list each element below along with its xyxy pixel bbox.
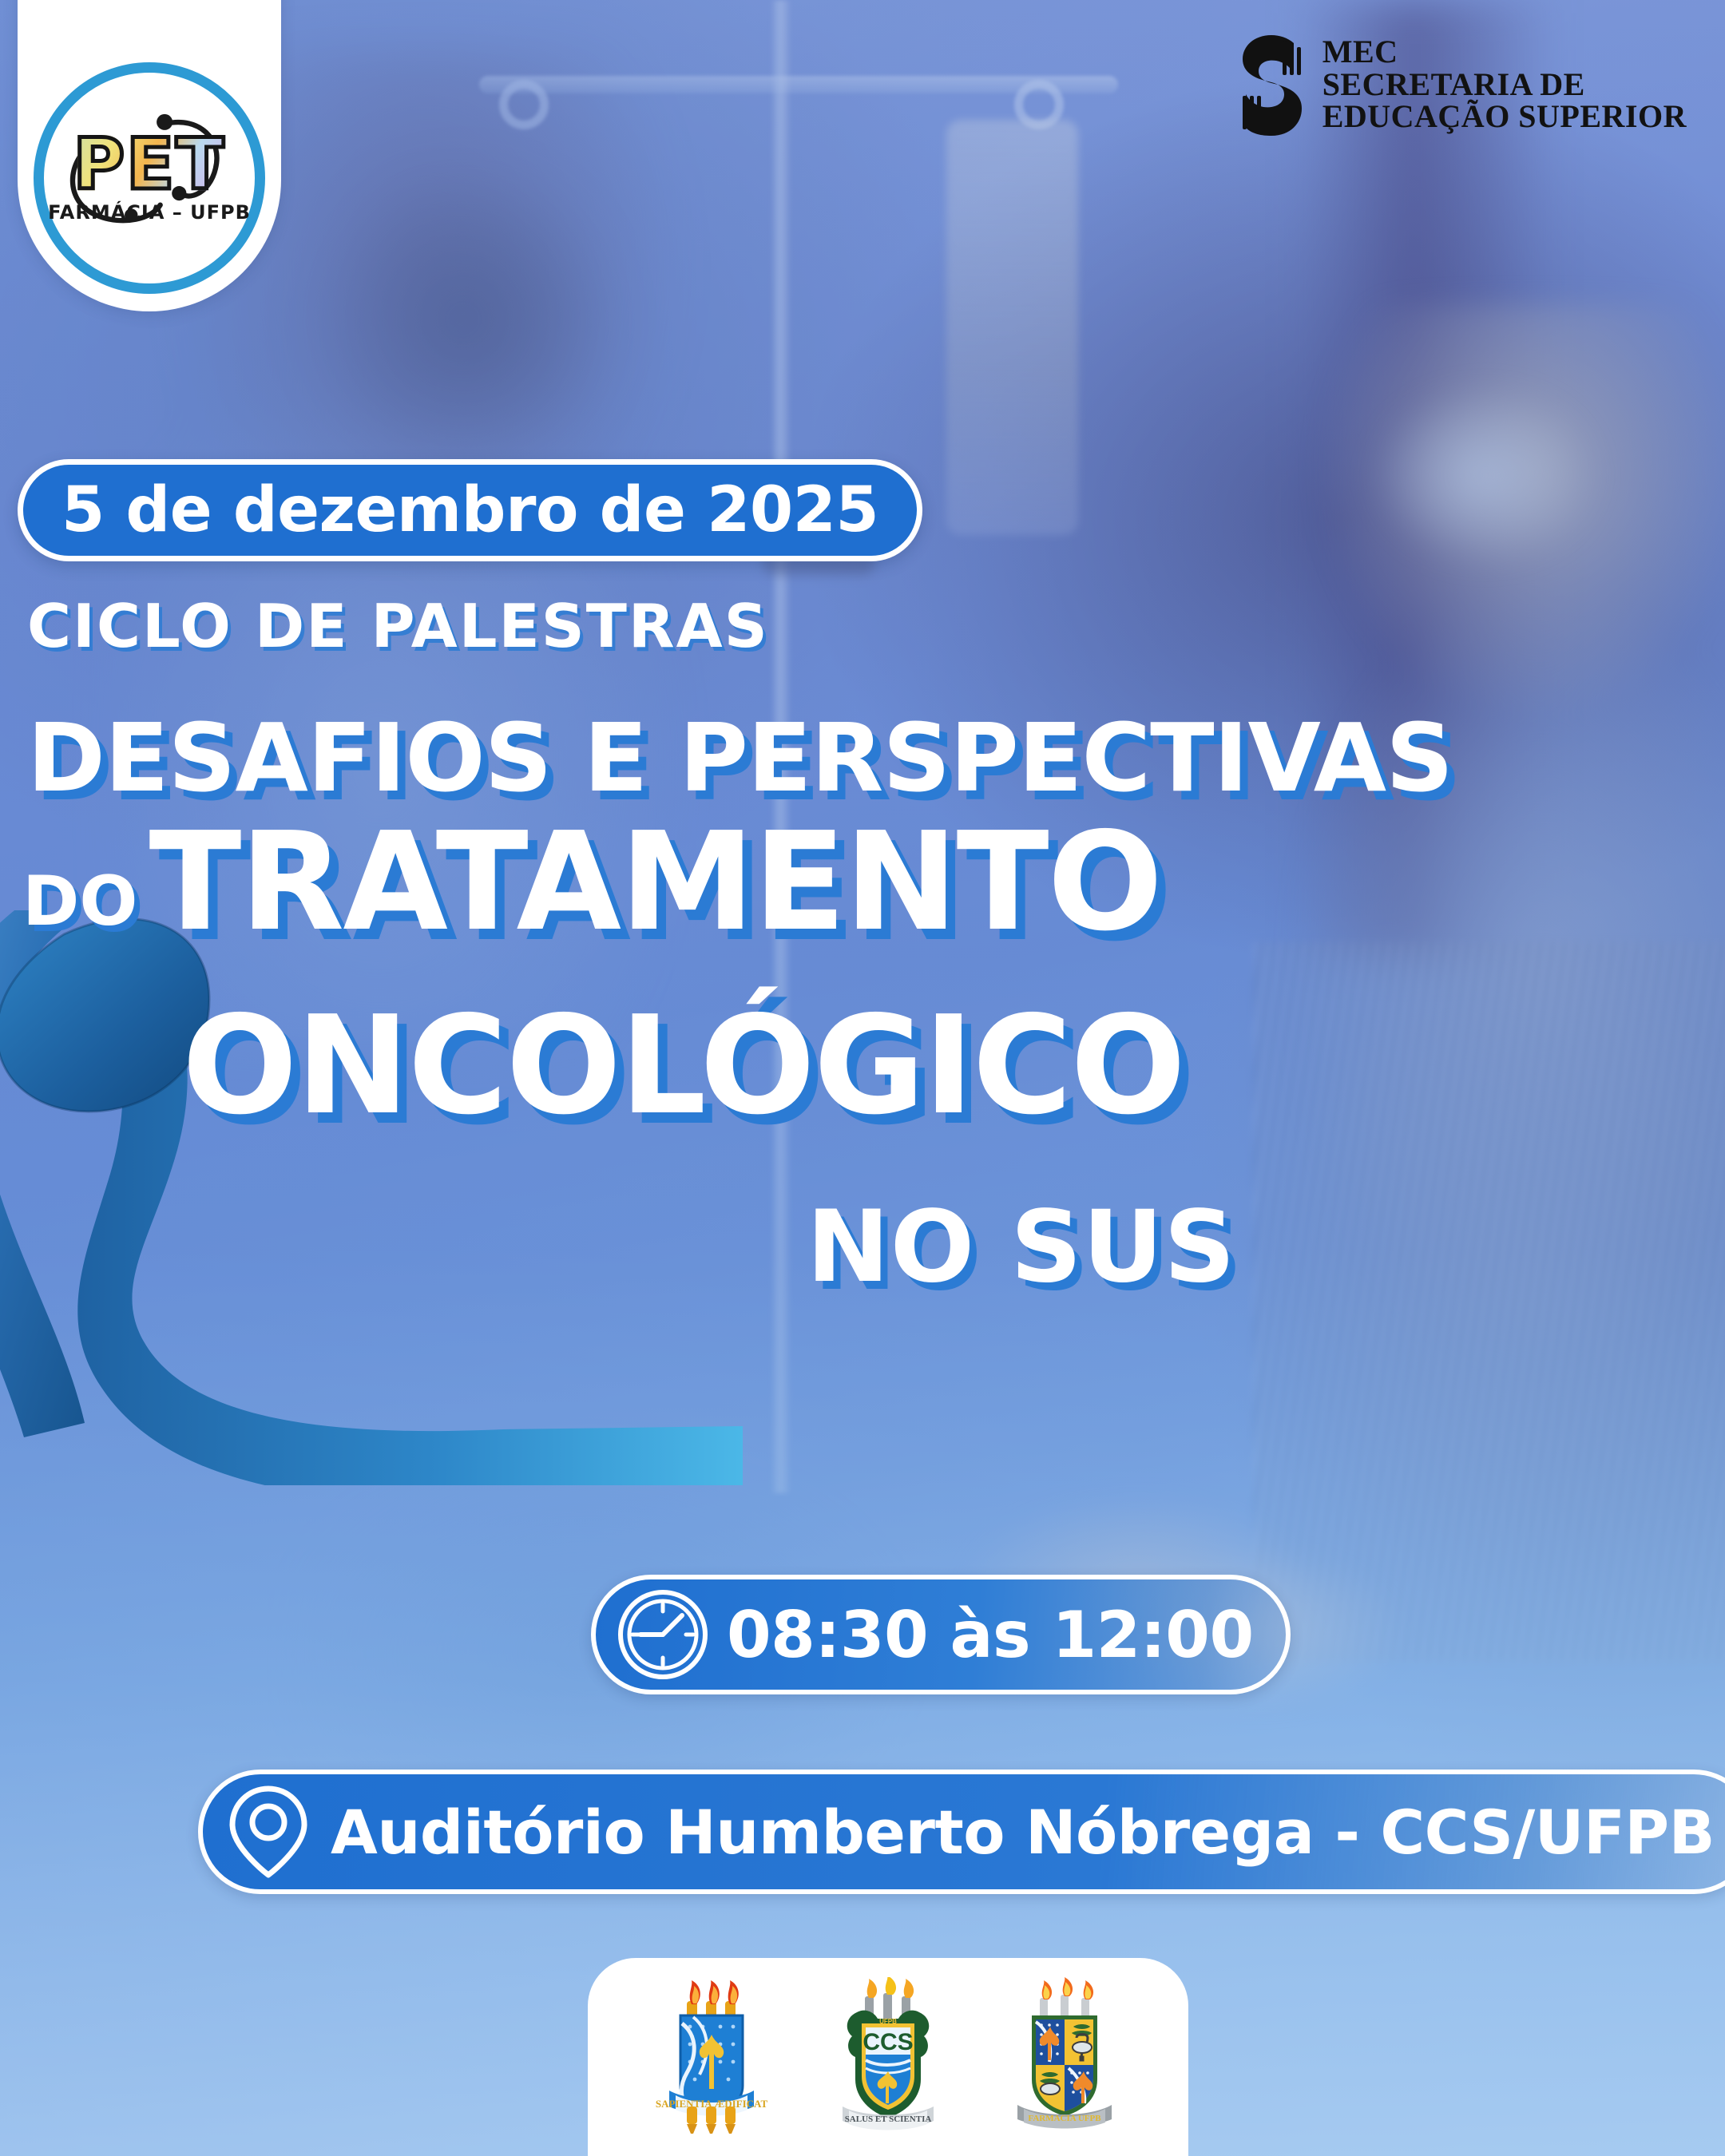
ufpb-crest: SAPIENTIA ÆDIFICAT [652,1977,771,2137]
event-poster: PET FARMÁCIA – UFPB MEC SECRETARIA DE ED… [0,0,1725,2156]
mec-line-2: SECRETARIA DE [1322,69,1687,101]
farmacia-ufpb-crest: FARMACIA UFPB [1005,1977,1124,2137]
date-badge: 5 de dezembro de 2025 [18,459,922,561]
mec-line-3: EDUCAÇÃO SUPERIOR [1322,101,1687,133]
time-badge: 08:30 às 12:00 [591,1575,1291,1694]
clock-icon [617,1588,709,1681]
date-badge-text: 5 de dezembro de 2025 [61,474,878,546]
headline-line-1: DESAFIOS E PERSPECTIVAS [27,703,1453,813]
institutional-logos-bar: SAPIENTIA ÆDIFICAT [588,1958,1188,2156]
pet-farmacia-logo: PET FARMÁCIA – UFPB [18,0,281,311]
ccs-motto: SALUS ET SCIENTIA [845,2114,932,2124]
headline-line-2: TRATAMENTO [149,814,1162,950]
headline-line-4: NO SUS [807,1198,1236,1297]
pet-logo-ring: PET FARMÁCIA – UFPB [34,62,265,294]
headline-line-3: ONCOLÓGICO [182,998,1184,1134]
pet-logo-word: PET [70,133,229,197]
svg-text:UFPB: UFPB [879,2018,897,2025]
location-badge-text: Auditório Humberto Nóbrega - CCS/UFPB [331,1797,1715,1868]
mec-emblem-icon [1235,32,1308,137]
ccs-label: CCS [862,2029,913,2055]
headline-line-2-prefix: DO [22,867,138,936]
mec-logo-text: MEC SECRETARIA DE EDUCAÇÃO SUPERIOR [1322,36,1687,133]
ccs-crest: UFPB CCS SALUS ET SCIENTIA [828,1977,948,2137]
mec-line-1: MEC [1322,36,1687,69]
location-badge: Auditório Humberto Nóbrega - CCS/UFPB [198,1770,1725,1894]
event-kicker: CICLO DE PALESTRAS [27,591,769,661]
mec-logo: MEC SECRETARIA DE EDUCAÇÃO SUPERIOR [1235,32,1687,137]
farmacia-motto: FARMACIA UFPB [1029,2114,1102,2123]
headline-line-2-wrap: DO TRATAMENTO [22,814,1161,950]
map-pin-icon [224,1781,313,1883]
time-badge-text: 08:30 às 12:00 [727,1598,1254,1672]
